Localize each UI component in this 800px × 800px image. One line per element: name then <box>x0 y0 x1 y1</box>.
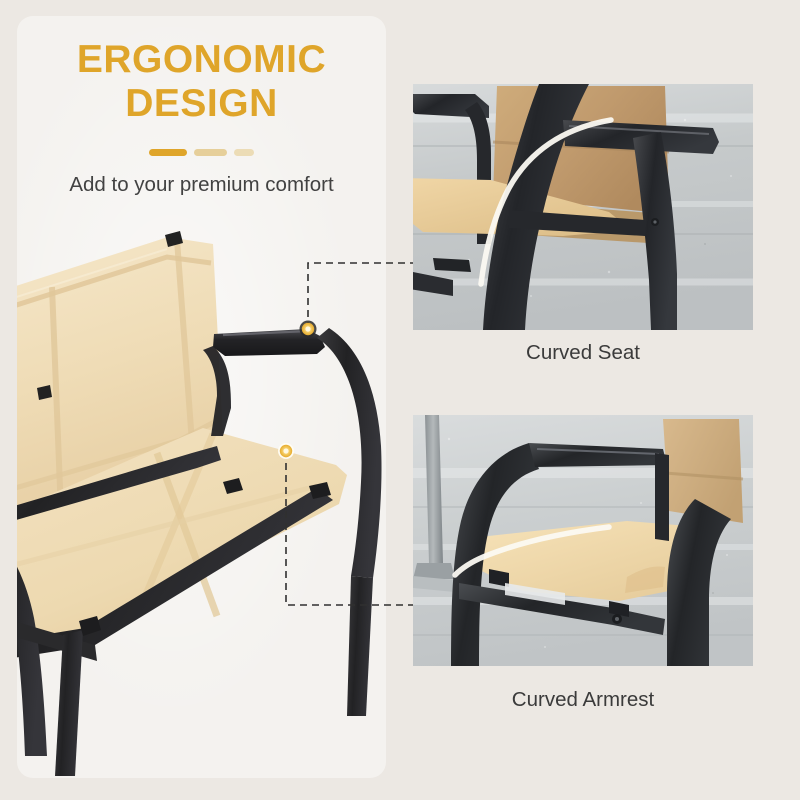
front-foot-bracket <box>433 258 471 272</box>
title-divider <box>17 149 386 156</box>
title-line-1: ERGONOMIC <box>77 38 326 81</box>
page-subtitle: Add to your premium comfort <box>17 173 386 197</box>
caption-curved-seat: Curved Seat <box>413 341 753 365</box>
bench-illustration <box>17 16 386 778</box>
title-line-2: DESIGN <box>17 82 386 126</box>
divider-dash-1 <box>149 149 187 156</box>
page-title: ERGONOMIC DESIGN <box>17 38 386 127</box>
divider-dash-3 <box>234 149 254 156</box>
bench-leg-left-front <box>55 630 83 776</box>
caption-curved-armrest: Curved Armrest <box>413 688 753 712</box>
detail-photo-curved-seat <box>413 84 753 330</box>
rear-post <box>655 453 669 541</box>
detail-photo-curved-armrest <box>413 415 753 666</box>
hero-card: ERGONOMIC DESIGN Add to your premium com… <box>17 16 386 778</box>
marketing-graphic-stage: ERGONOMIC DESIGN Add to your premium com… <box>0 0 800 800</box>
bench-leg-right-front <box>347 576 373 716</box>
divider-dash-2 <box>194 149 227 156</box>
